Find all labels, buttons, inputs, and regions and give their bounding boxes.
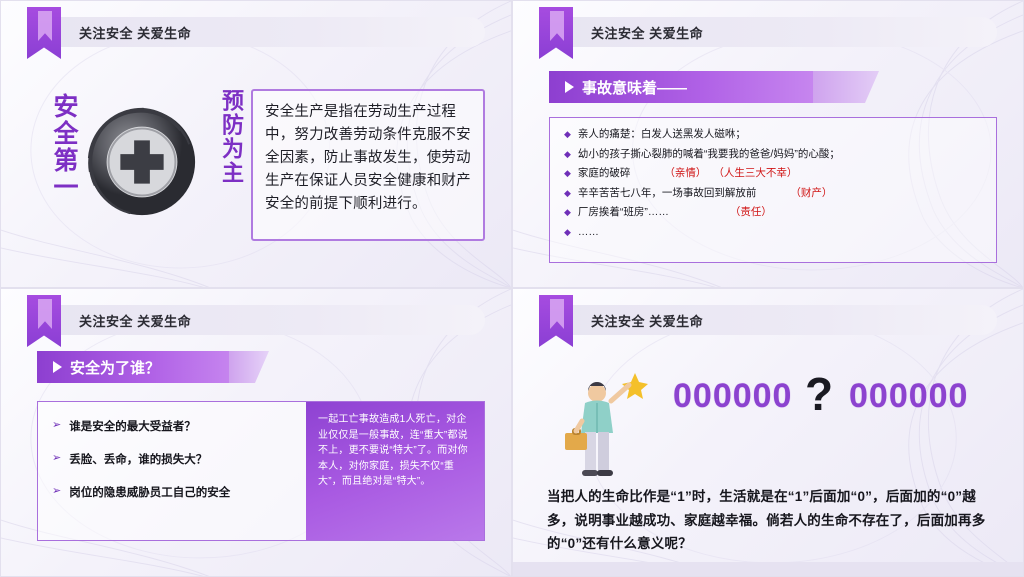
bullet-text: …… xyxy=(578,226,599,239)
slide-1-definition-box: 安全生产是指在劳动生产过程中，努力改善劳动条件克服不安全因素，防止事故发生，使劳… xyxy=(251,89,485,241)
header-title: 关注安全 关爱生命 xyxy=(591,311,703,330)
diamond-bullet-icon: ◆ xyxy=(564,187,571,201)
slide-2-header: 关注安全 关爱生命 xyxy=(535,17,997,47)
section-title-tail xyxy=(813,71,879,103)
section-title-text: 事故意味着—— xyxy=(582,77,687,98)
section-title-tail xyxy=(229,351,269,383)
diamond-bullet-icon: ◆ xyxy=(564,206,571,220)
slide-4-paragraph: 当把人的生命比作是“1”时，生活就是在“1”后面加“0”，后面加的“0”越多，说… xyxy=(547,485,999,556)
ribbon-inner-icon xyxy=(550,11,564,41)
vertical-text-left: 安全第一 xyxy=(41,93,77,201)
list-item: ◆ 家庭的破碎 （亲情） （人生三大不幸） xyxy=(564,167,982,181)
ribbon-inner-icon xyxy=(38,299,52,329)
list-item: ➢ 岗位的隐患威胁员工自己的安全 xyxy=(52,484,298,500)
header-title: 关注安全 关爱生命 xyxy=(79,311,191,330)
bullet-text: 亲人的痛楚：白发人送黑发人磁咻； xyxy=(578,128,746,141)
diamond-bullet-icon: ◆ xyxy=(564,128,571,142)
section-title-chevron: 安全为了谁？ xyxy=(37,351,243,383)
arrow-bullet-icon: ➢ xyxy=(52,418,61,431)
slide-3-content-box: ➢ 谁是安全的最大受益者？ ➢ 丢脸、丢命，谁的损失大？ ➢ 岗位的隐患威胁员工… xyxy=(37,401,485,541)
section-title-chevron: 事故意味着—— xyxy=(549,71,827,103)
bullet-note: （责任） xyxy=(730,206,772,219)
gear-cross-icon xyxy=(83,103,201,221)
slide-deck: 关注安全 关爱生命 安全第一 xyxy=(0,0,1024,577)
header-title: 关注安全 关爱生命 xyxy=(591,23,703,42)
ribbon-inner-icon xyxy=(550,299,564,329)
bullet-text: 家庭的破碎 xyxy=(578,167,631,180)
list-item: ◆ …… xyxy=(564,226,982,240)
zeros-right: 000000 xyxy=(849,377,968,416)
slide-3-section-title: 安全为了谁？ xyxy=(37,351,269,383)
list-item-label: 丢脸、丢命，谁的损失大？ xyxy=(69,451,207,467)
list-item-label: 谁是安全的最大受益者？ xyxy=(69,418,196,434)
ribbon-icon xyxy=(539,295,573,347)
arrow-bullet-icon: ➢ xyxy=(52,451,61,464)
footer-strip xyxy=(513,562,1023,576)
question-mark: ? xyxy=(805,367,833,421)
diamond-bullet-icon: ◆ xyxy=(564,148,571,162)
slide-2-bullet-frame: ◆ 亲人的痛楚：白发人送黑发人磁咻； ◆ 幼小的孩子撕心裂肺的喊着“我要我的爸爸… xyxy=(549,117,997,263)
bullet-note: （财产） xyxy=(790,187,832,200)
slide-1-graphic-group: 安全第一 xyxy=(27,83,247,253)
slide-3-purple-panel: 一起工亡事故造成1人死亡，对企业仅仅是一般事故，连“重大”都说不上，更不要说“特… xyxy=(306,402,484,540)
bullet-text: 厂房挨着“班房”…… xyxy=(578,206,669,219)
slide-1-body-text: 安全生产是指在劳动生产过程中，努力改善劳动条件克服不安全因素，防止事故发生，使劳… xyxy=(265,101,471,216)
ribbon-inner-icon xyxy=(38,11,52,41)
list-item: ◆ 辛辛苦苦七八年，一场事故回到解放前 （财产） xyxy=(564,187,982,201)
vertical-text-right: 预防为主 xyxy=(209,89,243,185)
list-item: ➢ 丢脸、丢命，谁的损失大？ xyxy=(52,451,298,467)
bullet-text: 辛辛苦苦七八年，一场事故回到解放前 xyxy=(578,187,757,200)
zeros-left: 000000 xyxy=(673,377,792,416)
bullet-note-2: （人生三大不幸） xyxy=(713,167,797,180)
header-title: 关注安全 关爱生命 xyxy=(79,23,191,42)
slide-4: 关注安全 关爱生命 xyxy=(512,288,1024,577)
list-item: ◆ 幼小的孩子撕心裂肺的喊着“我要我的爸爸/妈妈”的心酸； xyxy=(564,148,982,162)
slide-4-header: 关注安全 关爱生命 xyxy=(535,305,997,335)
play-triangle-icon xyxy=(565,81,574,93)
ribbon-icon xyxy=(27,7,61,59)
slide-3: 关注安全 关爱生命 安全为了谁？ ➢ 谁是安全的最大受益者？ ➢ 丢脸、丢命，谁… xyxy=(0,288,512,577)
section-title-text: 安全为了谁？ xyxy=(70,357,160,378)
diamond-bullet-icon: ◆ xyxy=(564,167,571,181)
arrow-bullet-icon: ➢ xyxy=(52,484,61,497)
slide-1: 关注安全 关爱生命 安全第一 xyxy=(0,0,512,288)
list-item: ◆ 亲人的痛楚：白发人送黑发人磁咻； xyxy=(564,128,982,142)
ribbon-icon xyxy=(539,7,573,59)
list-item: ◆ 厂房挨着“班房”…… （责任） xyxy=(564,206,982,220)
list-item-label: 岗位的隐患威胁员工自己的安全 xyxy=(69,484,230,500)
slide-3-question-list: ➢ 谁是安全的最大受益者？ ➢ 丢脸、丢命，谁的损失大？ ➢ 岗位的隐患威胁员工… xyxy=(38,402,308,540)
play-triangle-icon xyxy=(53,361,62,373)
slide-1-header: 关注安全 关爱生命 xyxy=(23,17,485,47)
slide-2-section-title: 事故意味着—— xyxy=(549,71,879,103)
diamond-bullet-icon: ◆ xyxy=(564,226,571,240)
list-item: ➢ 谁是安全的最大受益者？ xyxy=(52,418,298,434)
slide-2: 关注安全 关爱生命 事故意味着—— ◆ 亲人的痛楚：白发人送黑发人磁咻； ◆ 幼… xyxy=(512,0,1024,288)
bullet-note: （亲情） xyxy=(664,167,706,180)
bullet-text: 幼小的孩子撕心裂肺的喊着“我要我的爸爸/妈妈”的心酸； xyxy=(578,148,840,161)
businessman-illustration-icon xyxy=(549,363,669,483)
ribbon-icon xyxy=(27,295,61,347)
slide-3-header: 关注安全 关爱生命 xyxy=(23,305,485,335)
